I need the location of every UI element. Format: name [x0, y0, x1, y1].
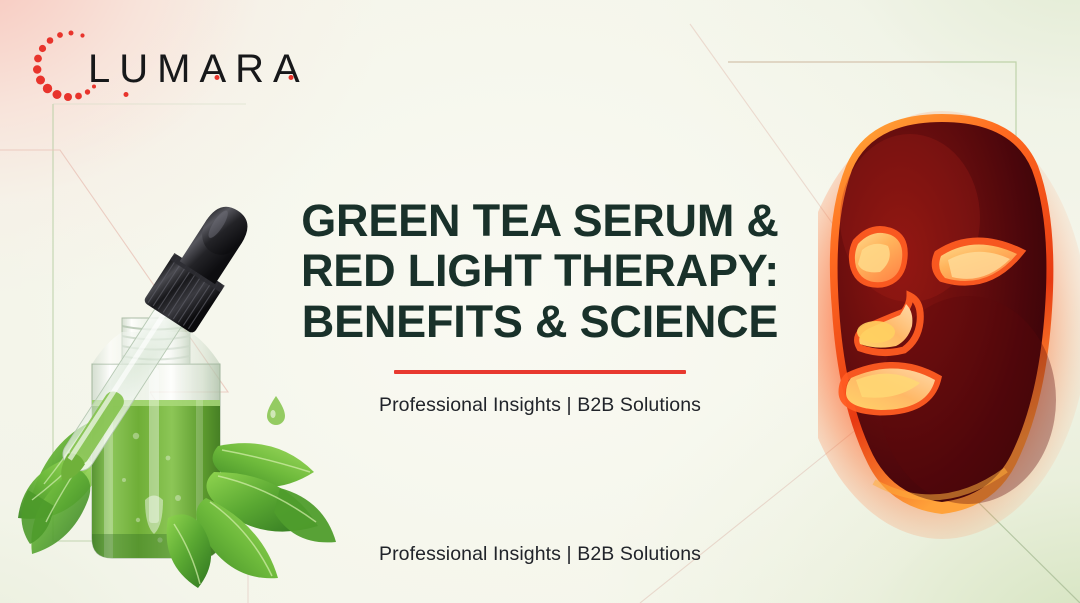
banner-root: LUMARA	[0, 0, 1080, 603]
logo-letter-m: M	[157, 49, 199, 89]
logo-letter-l: L	[88, 49, 119, 89]
logo-letter-a2: A	[273, 49, 309, 89]
subtitle-text: Professional Insights | B2B Solutions	[255, 394, 825, 417]
mask-mouth-opening	[842, 365, 938, 412]
logo-letter-a1: A	[199, 49, 235, 89]
logo-letter-r: R	[235, 49, 273, 89]
page-title: GREEN TEA SERUM & RED LIGHT THERAPY: BEN…	[255, 196, 825, 347]
headline-line-1: GREEN TEA SERUM &	[255, 196, 825, 246]
headline-block: GREEN TEA SERUM & RED LIGHT THERAPY: BEN…	[255, 196, 825, 417]
accent-dot-icon	[124, 92, 129, 97]
headline-line-3: BENEFITS & SCIENCE	[255, 297, 825, 347]
mask-eye-opening-left	[852, 230, 904, 285]
red-light-therapy-led-face-mask	[818, 100, 1080, 550]
footer-text: Professional Insights | B2B Solutions	[255, 543, 825, 566]
accent-divider	[394, 370, 686, 374]
accent-dot-icon	[288, 75, 293, 80]
brand-wordmark: LUMARA	[88, 49, 309, 89]
headline-line-2: RED LIGHT THERAPY:	[255, 246, 825, 296]
accent-dot-icon	[215, 75, 220, 80]
brand-logo[interactable]: LUMARA	[26, 27, 286, 119]
logo-letter-u: U	[119, 49, 157, 89]
